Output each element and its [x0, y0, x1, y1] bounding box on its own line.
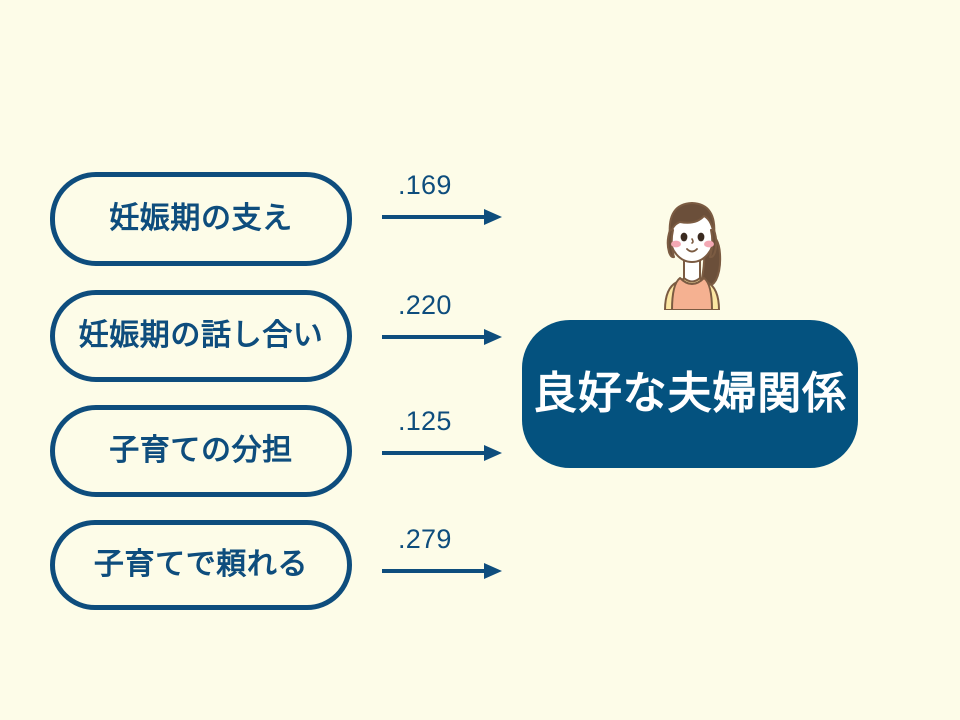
predictor-label-4: 子育てで頼れる — [94, 550, 308, 580]
path-arrow-group-3: .125 — [380, 408, 510, 468]
path-coefficient-1: .169 — [398, 172, 452, 199]
arrow-right-icon-3 — [380, 442, 504, 464]
path-arrow-group-4: .279 — [380, 526, 510, 586]
predictor-box-1: 妊娠期の支え — [50, 172, 352, 266]
predictor-label-3: 子育ての分担 — [109, 436, 293, 466]
arrow-right-icon-2 — [380, 326, 504, 348]
path-coefficient-2: .220 — [398, 292, 452, 319]
predictor-box-4: 子育てで頼れる — [50, 520, 352, 610]
predictor-box-2: 妊娠期の話し合い — [50, 290, 352, 382]
predictor-box-3: 子育ての分担 — [50, 405, 352, 497]
arrow-right-icon-4 — [380, 560, 504, 582]
outcome-box: 良好な夫婦関係 — [522, 320, 858, 468]
woman-avatar-icon — [645, 196, 739, 310]
outcome-label: 良好な夫婦関係 — [533, 372, 847, 416]
predictor-label-1: 妊娠期の支え — [109, 204, 293, 234]
path-coefficient-4: .279 — [398, 526, 452, 553]
predictor-label-2: 妊娠期の話し合い — [79, 321, 324, 351]
path-arrow-group-2: .220 — [380, 292, 510, 352]
path-arrow-group-1: .169 — [380, 172, 510, 232]
path-coefficient-3: .125 — [398, 408, 452, 435]
diagram-canvas: 妊娠期の支え 妊娠期の話し合い 子育ての分担 子育てで頼れる .169 .220… — [0, 0, 960, 720]
arrow-right-icon-1 — [380, 206, 504, 228]
